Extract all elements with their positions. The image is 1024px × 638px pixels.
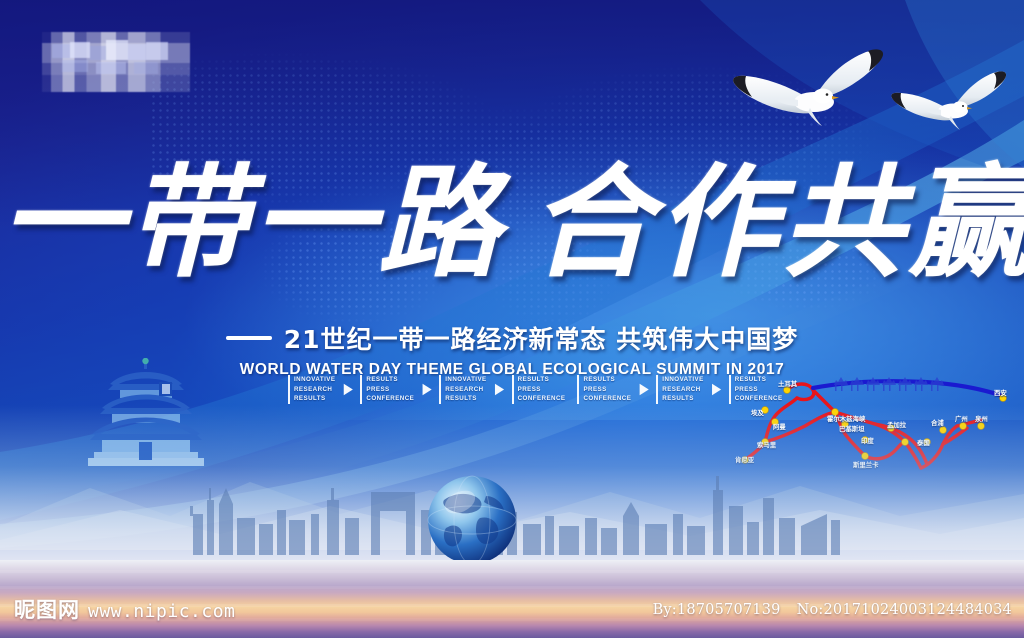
site-name-cn: 昵图网 — [14, 594, 80, 624]
headline-right: 合作共赢 — [530, 152, 1024, 294]
chip-line-2: PRESS — [518, 385, 566, 395]
chevron-right-icon — [341, 383, 354, 396]
chevron-right-icon — [493, 383, 506, 396]
chip-line-2: RESEARCH — [445, 385, 486, 395]
chip-line-2: PRESS — [583, 385, 631, 395]
streak — [0, 586, 1024, 589]
chip-line-3: RESULTS — [662, 394, 703, 404]
uploader-id: By:18705707139 — [653, 602, 781, 618]
page-title: 一带一路合作共赢 — [0, 162, 1024, 284]
streak — [0, 570, 1024, 573]
chip-line-1: RESULTS — [518, 375, 566, 385]
chevron-right-icon — [637, 383, 650, 396]
temple-of-heaven-icon — [80, 358, 212, 466]
keyword-chip[interactable]: RESULTS PRESS CONFERENCE — [577, 375, 631, 404]
chip-line-1: RESULTS — [366, 375, 414, 385]
seagull-icon-small — [890, 70, 1018, 154]
site-watermark: 昵图网 www.nipic.com — [14, 594, 235, 624]
chip-line-1: INNOVATIVE — [662, 375, 703, 385]
chip-line-2: PRESS — [366, 385, 414, 395]
camel-caravan-icon — [830, 368, 955, 394]
chip-line-2: RESEARCH — [662, 385, 703, 395]
chevron-right-icon — [710, 383, 723, 396]
asset-number: No:20171024003124484034 — [797, 602, 1012, 618]
subtitle-chinese-row: 21世纪一带一路经济新常态 共筑伟大中国梦 — [226, 320, 799, 356]
chip-line-3: RESULTS — [294, 394, 335, 404]
chip-line-3: RESULTS — [445, 394, 486, 404]
keyword-chip[interactable]: INNOVATIVE RESEARCH RESULTS — [656, 375, 703, 404]
keyword-chip[interactable]: RESULTS PRESS CONFERENCE — [512, 375, 566, 404]
chip-line-2: RESEARCH — [294, 385, 335, 395]
seagull-icon-large — [726, 46, 902, 156]
asset-credit: By:18705707139 No:20171024003124484034 — [653, 602, 1012, 618]
map-label: 土耳其 — [778, 379, 797, 388]
keyword-chip[interactable]: INNOVATIVE RESEARCH RESULTS — [439, 375, 486, 404]
chip-line-3: CONFERENCE — [583, 394, 631, 404]
headline-left: 一带一路 — [0, 152, 504, 294]
chip-line-3: CONFERENCE — [518, 394, 566, 404]
chip-line-1: INNOVATIVE — [445, 375, 486, 385]
keyword-chip[interactable]: INNOVATIVE RESEARCH RESULTS — [288, 375, 335, 404]
chevron-right-icon — [420, 383, 433, 396]
chip-line-1: INNOVATIVE — [294, 375, 335, 385]
keyword-chip[interactable]: RESULTS PRESS CONFERENCE — [360, 375, 414, 404]
chip-line-3: CONFERENCE — [366, 394, 414, 404]
map-label: 西安 — [994, 388, 1007, 397]
globe-icon — [424, 472, 520, 568]
dash-rule-icon — [226, 336, 272, 340]
keyword-chip-strip: INNOVATIVE RESEARCH RESULTS RESULTS PRES… — [288, 375, 783, 404]
site-url: www.nipic.com — [88, 601, 235, 622]
censored-logo-mosaic — [42, 32, 190, 92]
poster-canvas: 一带一路合作共赢 21世纪一带一路经济新常态 共筑伟大中国梦 WORLD WAT… — [0, 0, 1024, 638]
subtitle-chinese: 21世纪一带一路经济新常态 共筑伟大中国梦 — [284, 320, 799, 356]
chip-line-1: RESULTS — [583, 375, 631, 385]
